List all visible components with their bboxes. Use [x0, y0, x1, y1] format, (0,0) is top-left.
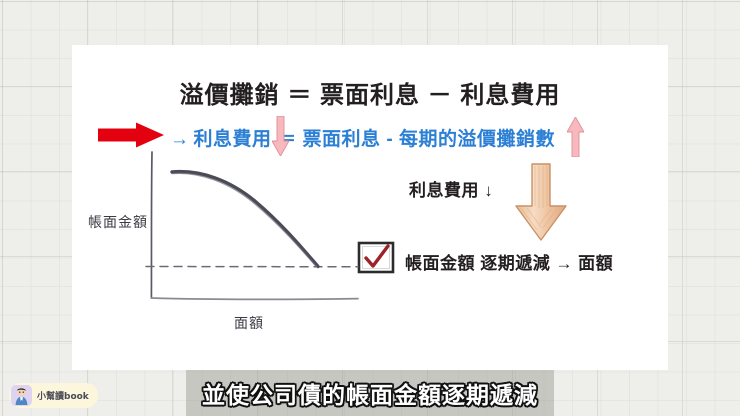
book-value-chart: [80, 150, 370, 325]
pink-up-arrow-icon: [567, 117, 584, 157]
avatar-icon: [11, 385, 32, 406]
formula-text: 利息費用 ＝ 票面利息 - 每期的溢價攤銷數: [194, 129, 555, 150]
watermark-label: 小幫讀book: [37, 389, 89, 402]
chart-y-axis-label: 帳面金額: [88, 212, 148, 232]
interest-expense-note: 利息費用 ↓: [409, 176, 493, 201]
blue-arrow-icon: →: [170, 129, 190, 150]
formula-line: →利息費用 ＝ 票面利息 - 每期的溢價攤銷數: [170, 124, 555, 151]
chart-x-axis-label: 面額: [234, 313, 264, 333]
red-arrow-icon: [98, 122, 164, 148]
watermark: 小幫讀book: [9, 383, 98, 408]
conclusion-text: 帳面金額 逐期遞減 → 面額: [405, 249, 613, 274]
slide-stage: 溢價攤銷 ＝ 票面利息 － 利息費用 →利息費用 ＝ 票面利息 - 每期的溢價攤…: [0, 0, 740, 416]
caption-text: 並使公司債的帳面金額逐期遞減: [186, 370, 554, 416]
slide-title: 溢價攤銷 ＝ 票面利息 － 利息費用: [72, 75, 668, 110]
big-down-arrow-icon: [513, 162, 569, 242]
